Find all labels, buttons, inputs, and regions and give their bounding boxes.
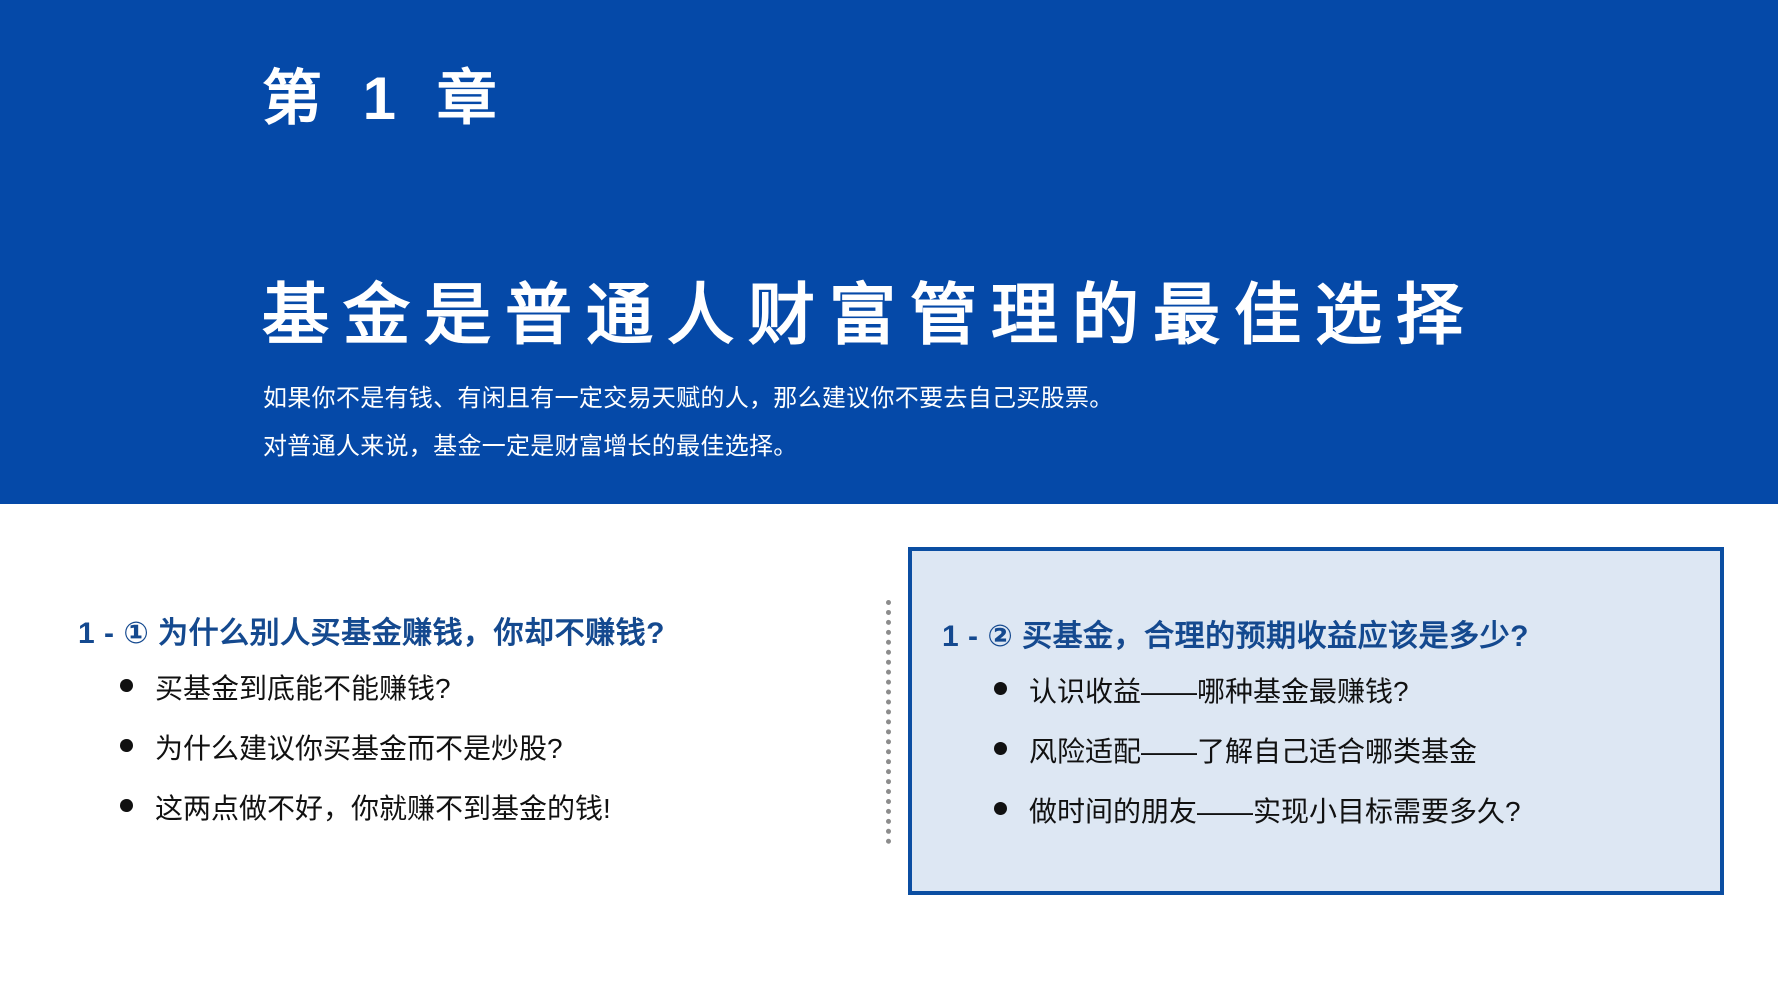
list-item-label: 买基金到底能不能赚钱? — [155, 670, 451, 708]
bullet-dot-icon — [120, 679, 133, 692]
hero-subtitle-line-2: 对普通人来说，基金一定是财富增长的最佳选择。 — [263, 428, 798, 465]
bullet-dot-icon — [994, 682, 1007, 695]
list-item-label: 认识收益——哪种基金最赚钱? — [1029, 673, 1409, 711]
bullet-dot-icon — [120, 739, 133, 752]
list-item-label: 风险适配——了解自己适合哪类基金 — [1029, 733, 1477, 771]
list-item: 这两点做不好，你就赚不到基金的钱! — [120, 790, 611, 828]
chapter-cover-slide: 第 1 章 基金是普通人财富管理的最佳选择 如果你不是有钱、有闲且有一定交易天赋… — [0, 0, 1778, 1000]
list-item-label: 做时间的朋友——实现小目标需要多久? — [1029, 793, 1521, 831]
list-item-label: 为什么建议你买基金而不是炒股? — [155, 730, 563, 768]
bullet-dot-icon — [994, 802, 1007, 815]
list-item: 为什么建议你买基金而不是炒股? — [120, 730, 611, 768]
list-item: 买基金到底能不能赚钱? — [120, 670, 611, 708]
list-item: 认识收益——哪种基金最赚钱? — [994, 673, 1521, 711]
column-divider — [886, 600, 891, 844]
section-1-2-bullet-list: 认识收益——哪种基金最赚钱? 风险适配——了解自己适合哪类基金 做时间的朋友——… — [994, 673, 1521, 830]
list-item: 风险适配——了解自己适合哪类基金 — [994, 733, 1521, 771]
list-item: 做时间的朋友——实现小目标需要多久? — [994, 793, 1521, 831]
hero-subtitle-line-1: 如果你不是有钱、有闲且有一定交易天赋的人，那么建议你不要去自己买股票。 — [263, 380, 1114, 417]
section-1-1-bullet-list: 买基金到底能不能赚钱? 为什么建议你买基金而不是炒股? 这两点做不好，你就赚不到… — [120, 670, 611, 827]
chapter-label: 第 1 章 — [262, 66, 509, 132]
list-item-label: 这两点做不好，你就赚不到基金的钱! — [155, 790, 611, 828]
section-1-2-heading: 1 - ② 买基金，合理的预期收益应该是多少? — [942, 611, 1529, 655]
bullet-dot-icon — [120, 799, 133, 812]
section-1-2-panel: 1 - ② 买基金，合理的预期收益应该是多少? 认识收益——哪种基金最赚钱? 风… — [908, 547, 1724, 895]
hero-banner: 第 1 章 基金是普通人财富管理的最佳选择 如果你不是有钱、有闲且有一定交易天赋… — [0, 0, 1778, 504]
bullet-dot-icon — [994, 742, 1007, 755]
page-title: 基金是普通人财富管理的最佳选择 — [262, 278, 1477, 353]
content-area: 1 - ① 为什么别人买基金赚钱，你却不赚钱? 买基金到底能不能赚钱? 为什么建… — [0, 504, 1778, 1000]
section-1-1-heading: 1 - ① 为什么别人买基金赚钱，你却不赚钱? — [78, 608, 665, 652]
